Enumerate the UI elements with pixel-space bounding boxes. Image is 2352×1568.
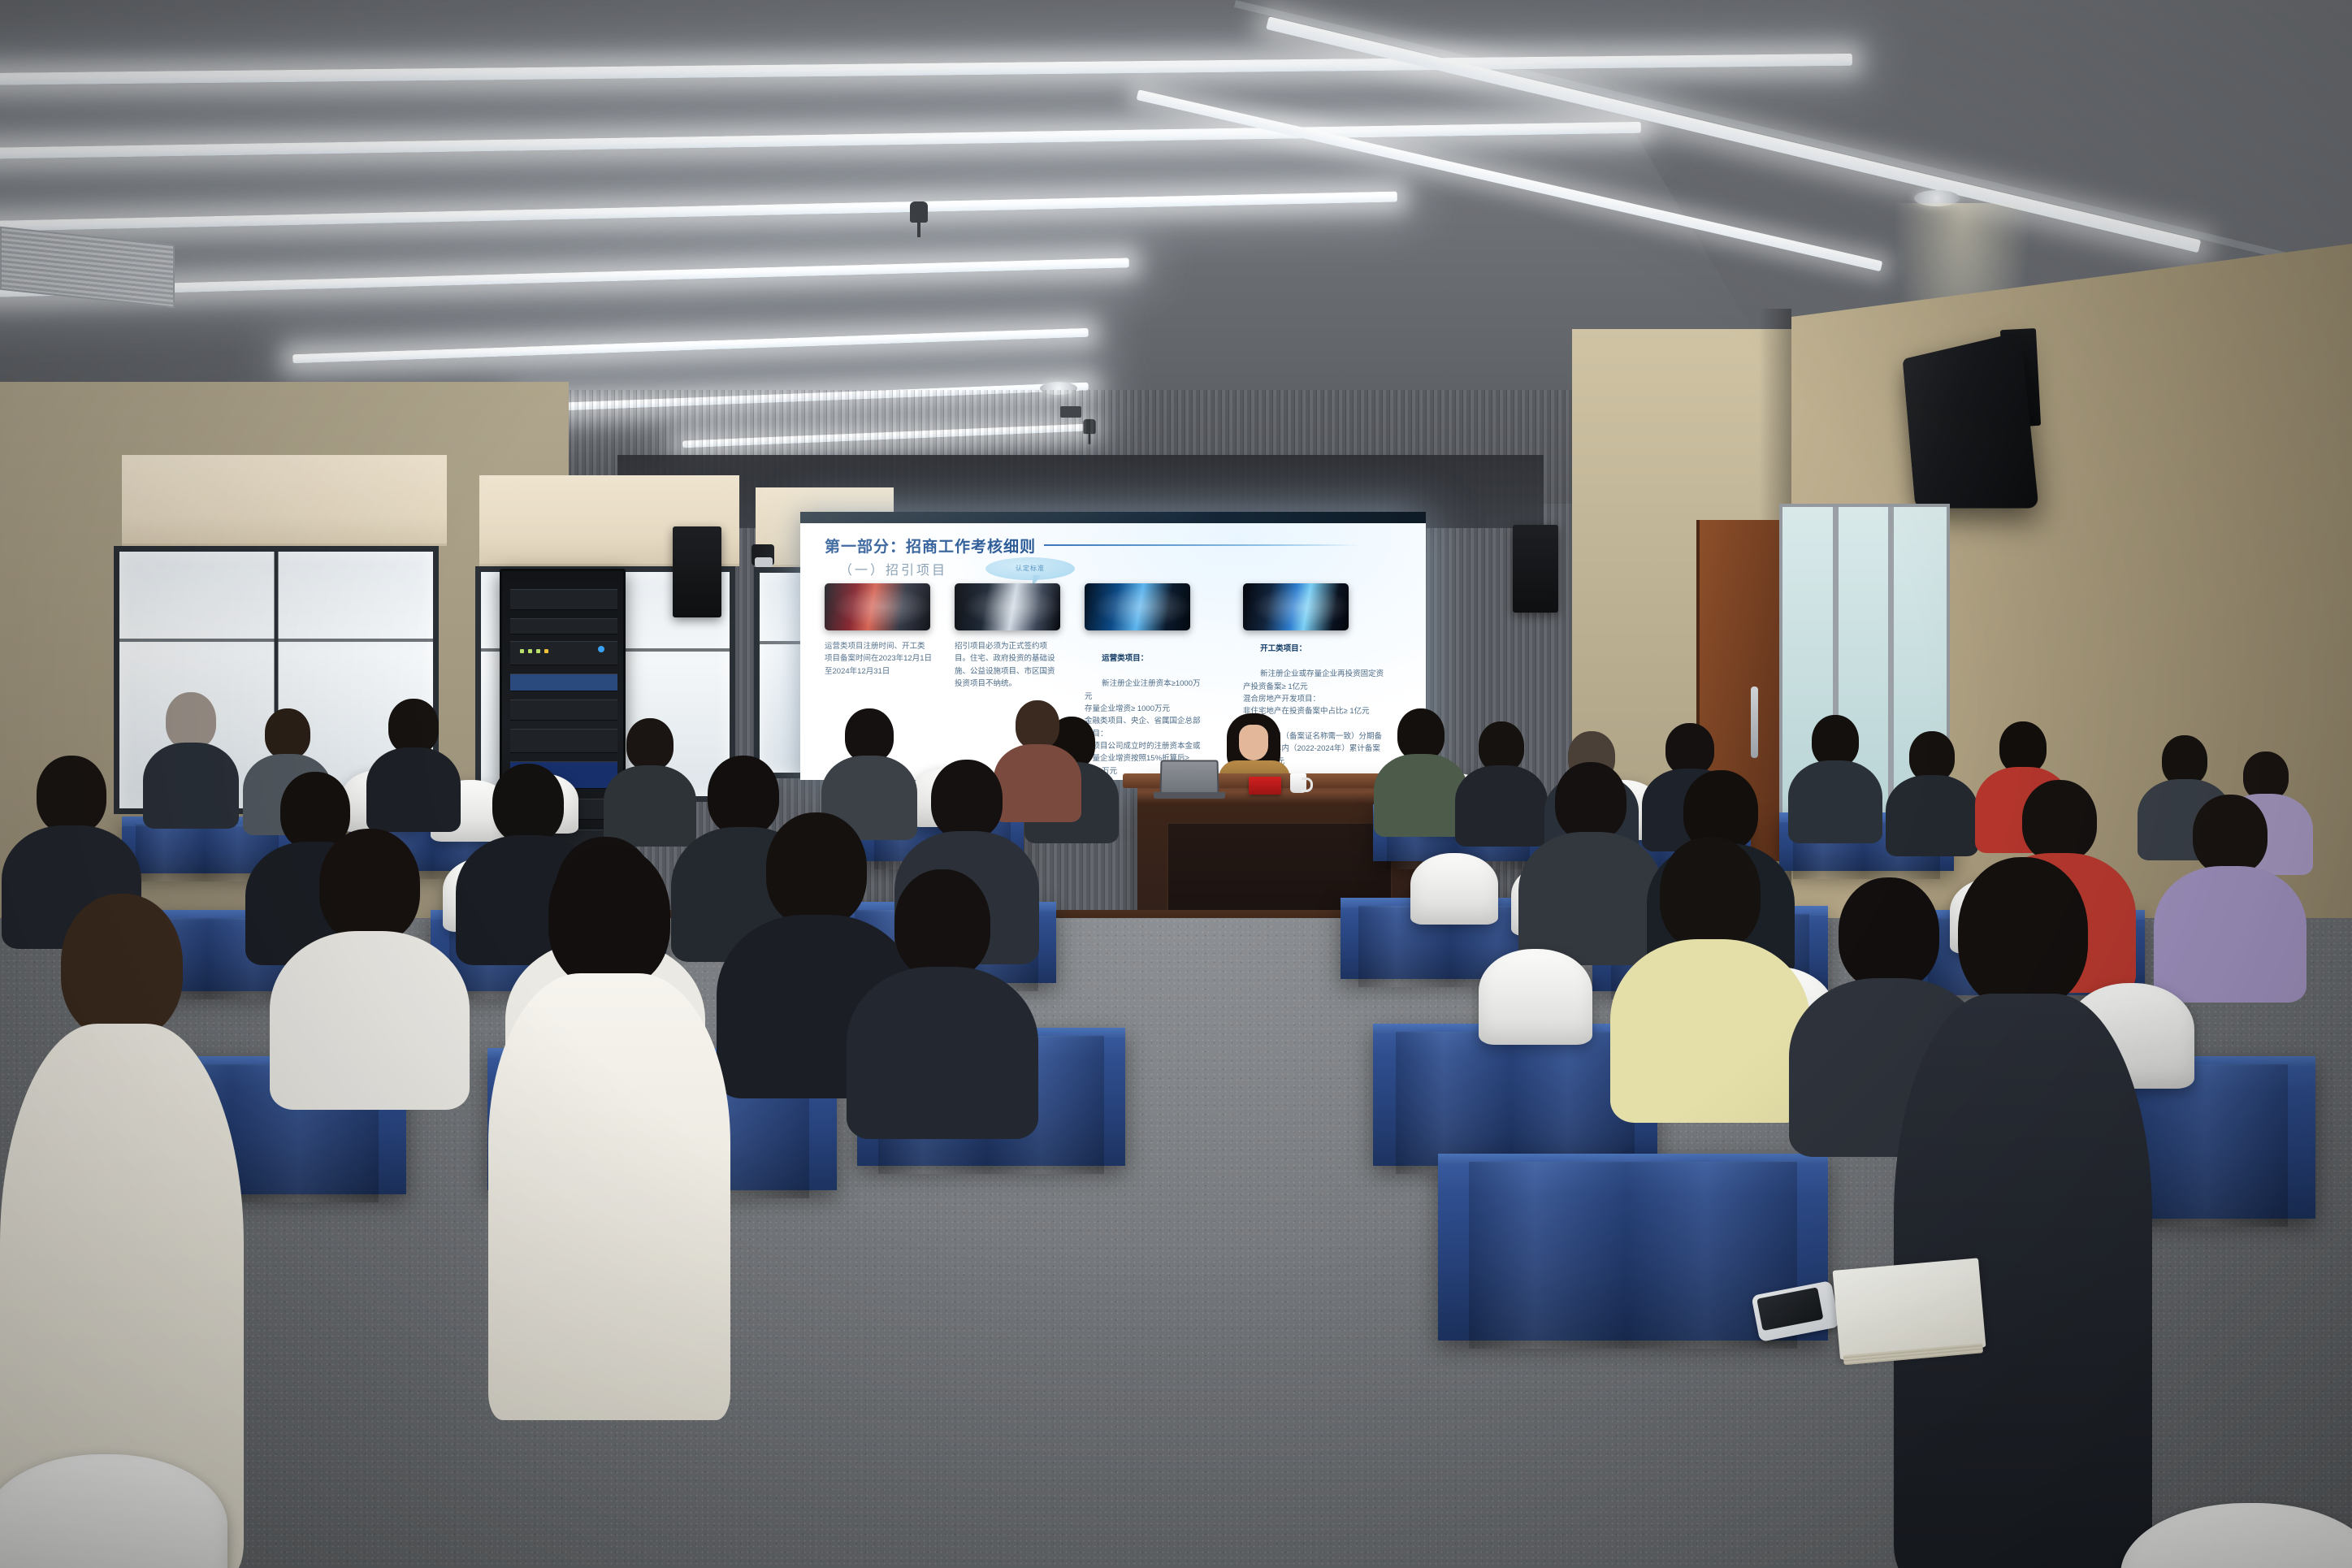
audience-person [1609,837,1812,1113]
slide-thumbnail-image [1243,583,1349,630]
name-plate [1249,777,1281,795]
slide-column-text: 运营类项目注册时间、开工类项目备案时间在2023年12月1日至2024年12月3… [825,640,932,678]
presenter-face [1239,725,1268,760]
wall-speaker-right [1513,525,1558,613]
audience-person [142,692,240,822]
notebook[interactable] [1833,1258,1986,1359]
audience-person [845,869,1040,1129]
slide-thumbnail-image [825,583,930,630]
audience-person [2153,795,2307,999]
slide-column-heading: 开工类项目： [1260,644,1306,653]
slide-title-rule [1044,544,1361,546]
projector-mount [1060,406,1081,418]
laptop-base [1154,792,1225,799]
chair [1410,853,1498,925]
conference-room-photo: 第一部分：招商工作考核细则 （一）招引项目 认定标准 运营类项目注册时间、开工类… [0,0,2352,1568]
slide-column-heading: 运营类项目： [1102,654,1148,663]
ceiling-downlight [1914,190,1960,206]
ptz-camera-icon [752,544,774,565]
wall-speaker-left [673,526,721,617]
slide-callout-bubble: 认定标准 [985,557,1075,580]
slide-thumbnail-image [1085,583,1190,630]
audience-person [268,829,471,1097]
slide-column-text: 招引项目必须为正式签约项目。住宅、政府投资的基础设施、公益设施项目、市区国资投资… [955,640,1062,691]
door-handle[interactable] [1751,687,1758,758]
chair [1479,949,1592,1045]
audience-person [1787,715,1883,838]
slide-subtitle: （一）招引项目 [839,559,947,578]
slide-callout-label: 认定标准 [1016,565,1045,572]
wall-speaker-large-right [1903,331,2039,508]
slide-thumbnail-image [955,583,1060,630]
slide-title: 第一部分：招商工作考核细则 [825,535,1036,557]
window-blind[interactable] [122,455,447,546]
audience-person [1885,731,1979,853]
smoke-detector-icon [910,201,928,223]
audience-person-foreground [1893,857,2153,1568]
slide-top-bar [800,512,1426,523]
laptop[interactable] [1159,760,1219,795]
audience-person-foreground [487,845,731,1414]
mug [1290,773,1306,793]
